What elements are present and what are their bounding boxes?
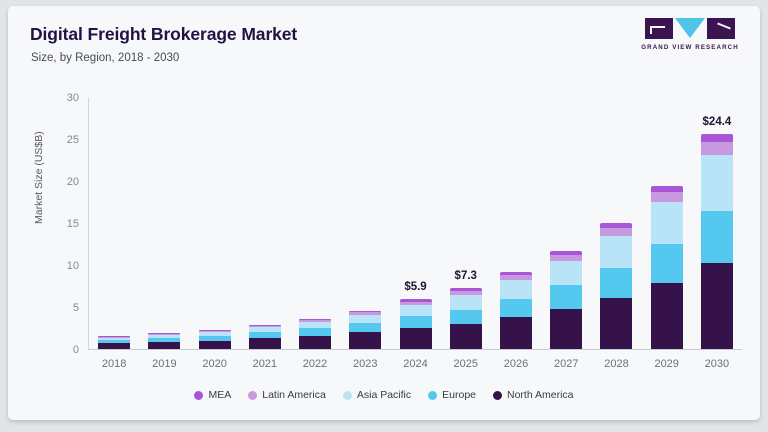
bar-stack[interactable] xyxy=(148,333,180,349)
x-axis-tick-2019: 2019 xyxy=(152,358,176,370)
bar-segment-asia-pacific[interactable] xyxy=(450,295,482,309)
bar-segment-asia-pacific[interactable] xyxy=(651,202,683,244)
legend-swatch-icon xyxy=(493,391,502,400)
logo-block-g xyxy=(645,18,673,39)
bar-segment-asia-pacific[interactable] xyxy=(550,261,582,285)
bar-stack[interactable] xyxy=(651,186,683,349)
y-axis-tick-30: 30 xyxy=(67,92,79,104)
bar-segment-europe[interactable] xyxy=(701,211,733,263)
bar-stack[interactable] xyxy=(98,336,130,349)
y-axis-tick-10: 10 xyxy=(67,260,79,272)
legend-item-mea[interactable]: MEA xyxy=(194,389,231,401)
bar-segment-north-america[interactable] xyxy=(550,309,582,349)
bar-stack[interactable] xyxy=(600,223,632,349)
y-axis-tick-20: 20 xyxy=(67,176,79,188)
bar-segment-europe[interactable] xyxy=(450,310,482,324)
bar-column-2022[interactable]: 2022 xyxy=(290,98,340,349)
bar-segment-north-america[interactable] xyxy=(98,343,130,349)
x-axis-tick-2021: 2021 xyxy=(253,358,277,370)
x-axis-tick-2023: 2023 xyxy=(353,358,377,370)
x-axis-tick-2025: 2025 xyxy=(454,358,478,370)
bar-stack[interactable]: $5.9 xyxy=(400,299,432,349)
bar-column-2029[interactable]: 2029 xyxy=(642,98,692,349)
logo-block-r xyxy=(707,18,735,39)
bar-column-2024[interactable]: $5.92024 xyxy=(390,98,440,349)
legend-label: Latin America xyxy=(262,389,326,401)
bar-segment-north-america[interactable] xyxy=(199,341,231,349)
bar-stack[interactable] xyxy=(299,319,331,349)
bar-stack[interactable] xyxy=(249,325,281,349)
bar-segment-north-america[interactable] xyxy=(500,317,532,349)
bar-segment-europe[interactable] xyxy=(349,323,381,332)
legend-label: MEA xyxy=(208,389,231,401)
bar-segment-north-america[interactable] xyxy=(400,328,432,349)
x-axis-tick-2022: 2022 xyxy=(303,358,327,370)
bar-segment-asia-pacific[interactable] xyxy=(400,305,432,316)
legend-swatch-icon xyxy=(343,391,352,400)
bar-stack[interactable] xyxy=(199,330,231,349)
bar-segment-north-america[interactable] xyxy=(249,338,281,349)
bar-column-2025[interactable]: $7.32025 xyxy=(441,98,491,349)
y-axis-tick-0: 0 xyxy=(73,344,79,356)
bar-segment-asia-pacific[interactable] xyxy=(500,280,532,298)
bar-stack[interactable]: $24.4 xyxy=(701,134,733,349)
x-axis-tick-2018: 2018 xyxy=(102,358,126,370)
bar-segment-latin-america[interactable] xyxy=(701,142,733,155)
x-axis-tick-2024: 2024 xyxy=(403,358,427,370)
bar-column-2021[interactable]: 2021 xyxy=(240,98,290,349)
bar-segment-north-america[interactable] xyxy=(701,263,733,349)
bar-segment-north-america[interactable] xyxy=(450,324,482,349)
bar-value-label-2024: $5.9 xyxy=(404,281,426,293)
bar-stack[interactable] xyxy=(500,272,532,349)
bar-segment-north-america[interactable] xyxy=(651,283,683,349)
bar-segment-mea[interactable] xyxy=(701,134,733,142)
legend-swatch-icon xyxy=(194,391,203,400)
bar-segment-north-america[interactable] xyxy=(349,332,381,349)
bar-segment-asia-pacific[interactable] xyxy=(349,315,381,323)
bar-column-2018[interactable]: 2018 xyxy=(89,98,139,349)
chart-legend: MEALatin AmericaAsia PacificEuropeNorth … xyxy=(8,389,760,401)
bar-column-2023[interactable]: 2023 xyxy=(340,98,390,349)
x-axis-tick-2028: 2028 xyxy=(604,358,628,370)
bar-segment-north-america[interactable] xyxy=(600,298,632,349)
bar-segment-europe[interactable] xyxy=(600,268,632,298)
x-axis-tick-2020: 2020 xyxy=(202,358,226,370)
legend-label: Asia Pacific xyxy=(357,389,411,401)
bar-column-2028[interactable]: 2028 xyxy=(591,98,641,349)
chart-subtitle: Size, by Region, 2018 - 2030 xyxy=(31,52,179,64)
y-axis-label: Market Size (US$B) xyxy=(33,131,45,224)
legend-item-north-america[interactable]: North America xyxy=(493,389,574,401)
logo-text: GRAND VIEW RESEARCH xyxy=(638,44,742,51)
bar-column-2019[interactable]: 2019 xyxy=(139,98,189,349)
bar-segment-europe[interactable] xyxy=(400,316,432,328)
legend-swatch-icon xyxy=(428,391,437,400)
legend-label: North America xyxy=(507,389,574,401)
y-axis-tick-15: 15 xyxy=(67,218,79,230)
bar-stack[interactable] xyxy=(349,311,381,349)
x-axis-tick-2029: 2029 xyxy=(654,358,678,370)
bar-segment-europe[interactable] xyxy=(651,244,683,283)
legend-label: Europe xyxy=(442,389,476,401)
x-axis-line xyxy=(88,349,742,350)
logo-mark-icon xyxy=(638,18,742,40)
bar-column-2027[interactable]: 2027 xyxy=(541,98,591,349)
legend-swatch-icon xyxy=(248,391,257,400)
y-axis-tick-25: 25 xyxy=(67,134,79,146)
y-axis-tick-5: 5 xyxy=(73,302,79,314)
plot-area: 051015202530 201820192020202120222023$5.… xyxy=(88,98,742,350)
bar-segment-north-america[interactable] xyxy=(148,342,180,349)
bar-series-group: 201820192020202120222023$5.92024$7.32025… xyxy=(89,98,742,349)
bar-segment-asia-pacific[interactable] xyxy=(299,322,331,329)
legend-item-asia-pacific[interactable]: Asia Pacific xyxy=(343,389,411,401)
bar-column-2030[interactable]: $24.42030 xyxy=(692,98,742,349)
bar-segment-north-america[interactable] xyxy=(299,336,331,349)
bar-segment-europe[interactable] xyxy=(500,299,532,317)
bar-column-2020[interactable]: 2020 xyxy=(189,98,239,349)
bar-stack[interactable] xyxy=(550,251,582,349)
bar-segment-europe[interactable] xyxy=(550,285,582,309)
grand-view-research-logo: GRAND VIEW RESEARCH xyxy=(638,18,742,51)
legend-item-europe[interactable]: Europe xyxy=(428,389,476,401)
bar-column-2026[interactable]: 2026 xyxy=(491,98,541,349)
x-axis-tick-2026: 2026 xyxy=(504,358,528,370)
bar-segment-latin-america[interactable] xyxy=(651,192,683,202)
x-axis-tick-2027: 2027 xyxy=(554,358,578,370)
logo-triangle-v-icon xyxy=(675,18,705,38)
x-axis-tick-2030: 2030 xyxy=(705,358,729,370)
page-title: Digital Freight Brokerage Market xyxy=(30,24,297,45)
bar-segment-asia-pacific[interactable] xyxy=(600,236,632,268)
bar-segment-europe[interactable] xyxy=(299,328,331,335)
bar-segment-latin-america[interactable] xyxy=(600,228,632,236)
chart-card: Digital Freight Brokerage Market Size, b… xyxy=(8,6,760,420)
bar-segment-asia-pacific[interactable] xyxy=(701,155,733,211)
bar-stack[interactable]: $7.3 xyxy=(450,288,482,349)
bar-value-label-2030: $24.4 xyxy=(703,116,732,128)
bar-value-label-2025: $7.3 xyxy=(455,270,477,282)
legend-item-latin-america[interactable]: Latin America xyxy=(248,389,326,401)
